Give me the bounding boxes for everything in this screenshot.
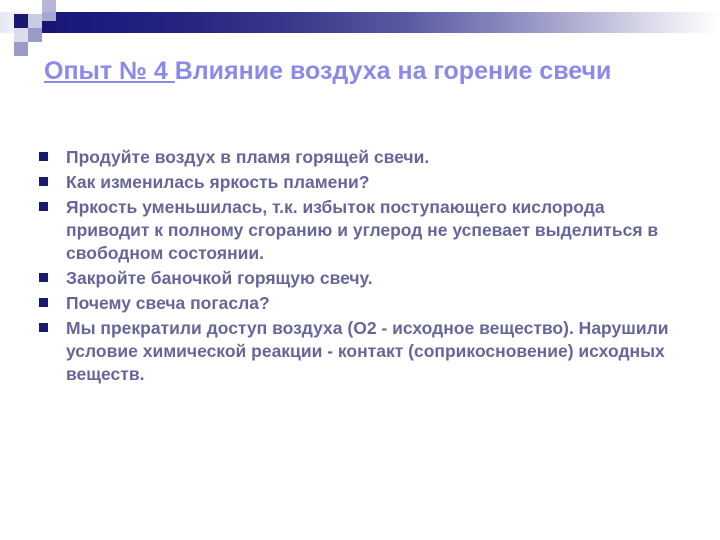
bullet-square-icon bbox=[39, 177, 48, 186]
deco-square-mid-6 bbox=[14, 42, 28, 56]
list-item: Яркость уменьшилась, т.к. избыток поступ… bbox=[36, 196, 676, 265]
bullet-square-icon bbox=[39, 273, 48, 282]
page-title-subject: Влияние воздуха на горение свечи bbox=[175, 57, 612, 85]
slide-canvas: Опыт № 4 Влияние воздуха на горение свеч… bbox=[0, 0, 720, 540]
list-item: Мы прекратили доступ воздуха (O2 - исход… bbox=[36, 317, 676, 386]
bullet-square-icon bbox=[39, 152, 48, 161]
deco-square-mid-5 bbox=[14, 28, 28, 42]
deco-square-light-1 bbox=[28, 0, 42, 14]
deco-square-mid-1 bbox=[42, 0, 56, 12]
deco-square-dark-2 bbox=[42, 21, 56, 33]
deco-square-mid-2 bbox=[28, 14, 42, 28]
bullet-square-icon bbox=[39, 202, 48, 211]
header-decoration bbox=[0, 0, 720, 52]
page-title-experiment-number: Опыт № 4 bbox=[44, 57, 175, 85]
list-item-label: Продуйте воздух в пламя горящей свечи. bbox=[66, 146, 676, 169]
list-item-label: Закройте баночкой горящую свечу. bbox=[66, 267, 676, 290]
list-item: Закройте баночкой горящую свечу. bbox=[36, 267, 676, 290]
list-item-label: Мы прекратили доступ воздуха (O2 - исход… bbox=[66, 317, 676, 386]
list-item: Как изменилась яркость пламени? bbox=[36, 171, 676, 194]
bullet-square-icon bbox=[39, 323, 48, 332]
deco-square-mid-4 bbox=[28, 28, 42, 42]
header-gradient-bar bbox=[42, 12, 720, 33]
list-item: Почему свеча погасла? bbox=[36, 292, 676, 315]
list-item: Продуйте воздух в пламя горящей свечи. bbox=[36, 146, 676, 169]
list-item-label: Как изменилась яркость пламени? bbox=[66, 171, 676, 194]
bullet-square-icon bbox=[39, 298, 48, 307]
list-item-label: Почему свеча погасла? bbox=[66, 292, 676, 315]
list-item-label: Яркость уменьшилась, т.к. избыток поступ… bbox=[66, 196, 676, 265]
deco-square-dark-1 bbox=[14, 14, 28, 28]
deco-square-mid-3 bbox=[42, 12, 56, 21]
page-title: Опыт № 4 Влияние воздуха на горение свеч… bbox=[44, 55, 694, 87]
bullet-list: Продуйте воздух в пламя горящей свечи.Ка… bbox=[36, 146, 676, 388]
